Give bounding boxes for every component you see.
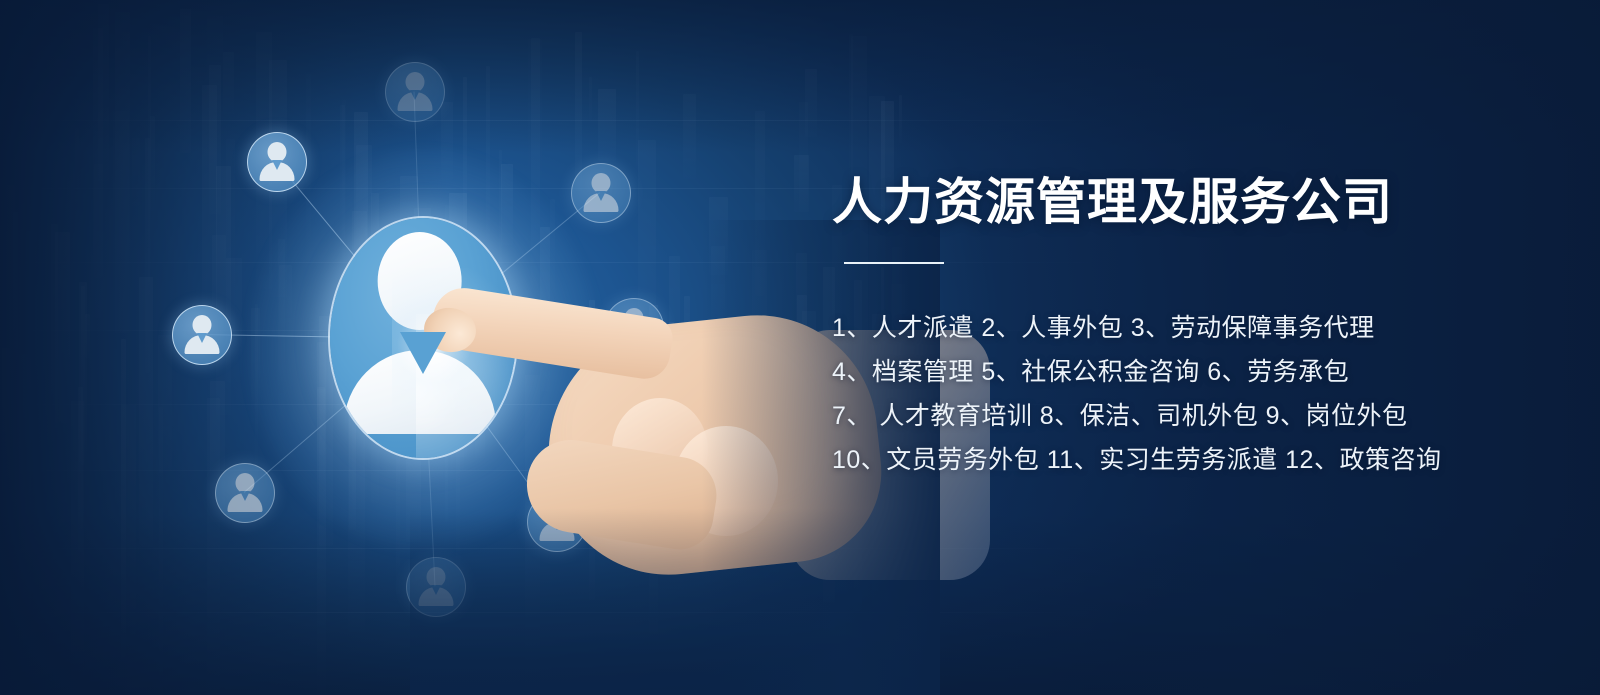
central-person-collar	[400, 332, 446, 374]
service-line: 10、文员劳务外包 11、实习生劳务派遣 12、政策咨询	[832, 438, 1512, 482]
node-head	[193, 315, 212, 335]
node-collar	[272, 160, 282, 170]
service-line: 4、档案管理 5、社保公积金咨询 6、劳务承包	[832, 350, 1512, 394]
person-node-upper-left	[247, 132, 307, 192]
node-collar	[197, 333, 207, 343]
node-collar	[596, 191, 606, 201]
node-head	[268, 142, 287, 162]
node-head	[236, 473, 255, 493]
node-head	[592, 173, 611, 193]
node-collar	[240, 491, 250, 501]
title-divider	[844, 262, 944, 264]
person-node-lower-left	[215, 463, 275, 523]
network-graphic	[0, 0, 780, 695]
pointing-hand	[430, 250, 900, 670]
text-content: 人力资源管理及服务公司 1、人才派遣 2、人事外包 3、劳动保障事务代理4、档案…	[832, 0, 1532, 695]
service-line: 1、人才派遣 2、人事外包 3、劳动保障事务代理	[832, 306, 1512, 350]
services-list: 1、人才派遣 2、人事外包 3、劳动保障事务代理4、档案管理 5、社保公积金咨询…	[832, 306, 1512, 482]
node-head	[406, 72, 425, 92]
person-node-left	[172, 305, 232, 365]
hr-services-banner: 人力资源管理及服务公司 1、人才派遣 2、人事外包 3、劳动保障事务代理4、档案…	[0, 0, 1600, 695]
person-node-upper-right	[571, 163, 631, 223]
node-collar	[410, 90, 420, 100]
person-node-top	[385, 62, 445, 122]
service-line: 7、 人才教育培训 8、保洁、司机外包 9、岗位外包	[832, 394, 1512, 438]
page-title: 人力资源管理及服务公司	[832, 162, 1393, 234]
